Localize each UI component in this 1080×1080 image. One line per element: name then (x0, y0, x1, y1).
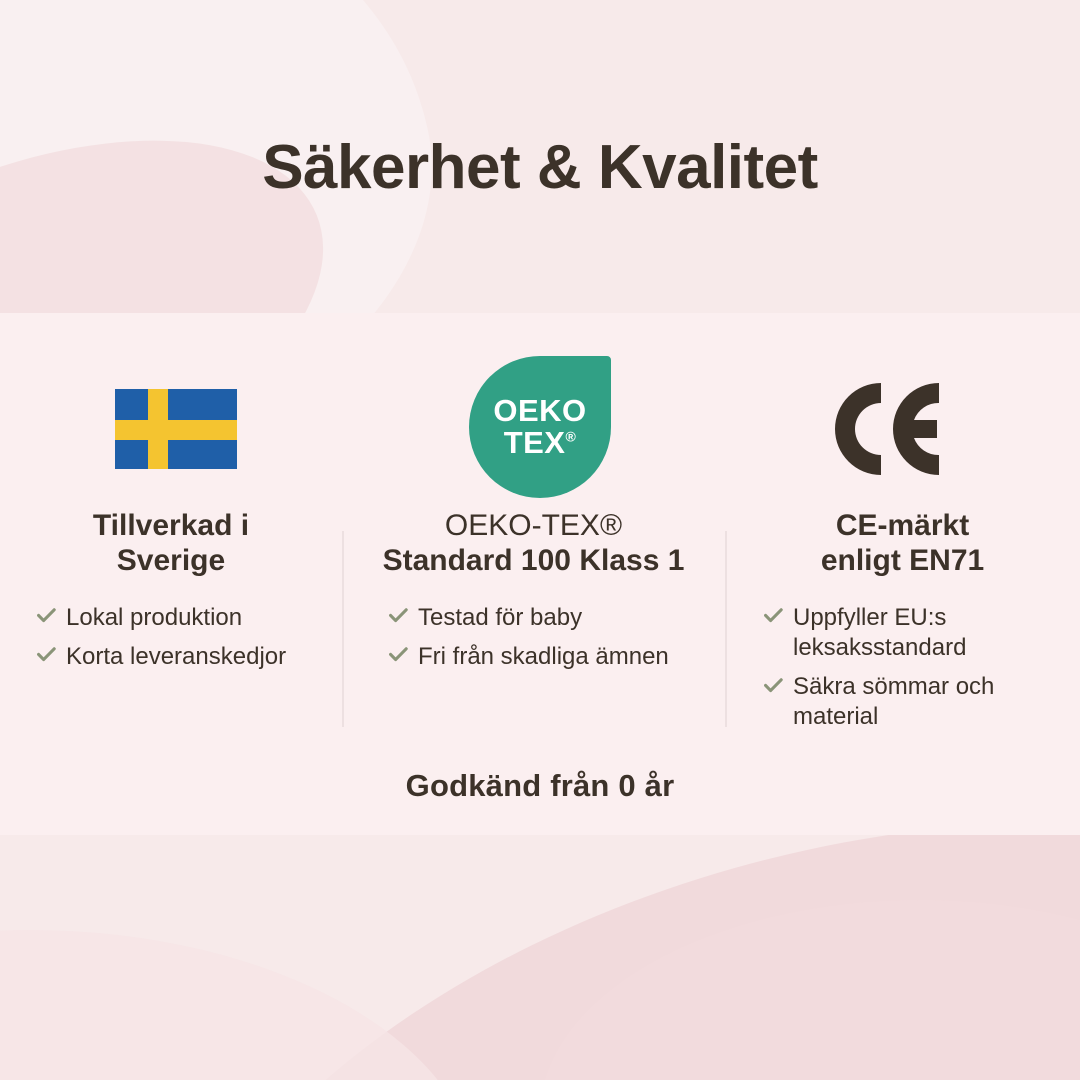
column-heading-ce-line2: enligt EN71 (821, 544, 984, 577)
check-icon (388, 642, 408, 668)
oeko-tex-logo-icon: OEKO TEX® (469, 356, 611, 498)
badge-row: OEKO TEX® (0, 369, 1080, 489)
decorative-blob-bottom-right (540, 900, 1080, 1080)
column-heading-oekotex: OEKO-TEX® Standard 100 Klass 1 (342, 509, 725, 579)
check-icon (36, 603, 56, 629)
trust-column-sweden: Tillverkad i Sverige Lokal produktion (0, 509, 342, 681)
list-item: Fri från skadliga ämnen (388, 642, 725, 672)
check-icon (36, 642, 56, 668)
column-heading-sweden: Tillverkad i Sverige (0, 509, 342, 579)
column-heading-oekotex-line2: Standard 100 Klass 1 (383, 544, 685, 577)
column-heading-ce-line1: CE-märkt (836, 509, 969, 542)
decorative-blob-bottom-left (0, 930, 480, 1080)
list-item: Testad för baby (388, 603, 725, 633)
column-heading-oekotex-line1: OEKO-TEX® (445, 509, 622, 542)
ce-mark-icon (829, 377, 979, 481)
list-item-label: Lokal produktion (66, 603, 242, 633)
column-heading-sweden-line2: Sverige (117, 544, 225, 577)
feature-list-sweden: Lokal produktion Korta leveranskedjor (0, 603, 342, 672)
list-item: Lokal produktion (36, 603, 342, 633)
list-item-label: Testad för baby (418, 603, 582, 633)
list-item: Korta leveranskedjor (36, 642, 342, 672)
infographic-canvas: Säkerhet & Kvalitet OEKO TEX® (0, 0, 1080, 1080)
trust-panel: OEKO TEX® Tillverkad i (0, 313, 1080, 835)
list-item-label: Korta leveranskedjor (66, 642, 286, 672)
check-icon (763, 603, 783, 629)
badge-cell-ce (728, 369, 1080, 489)
trust-column-ce: CE-märkt enligt EN71 Uppfyller EU:s leks… (725, 509, 1080, 742)
column-heading-sweden-line1: Tillverkad i (93, 509, 249, 542)
oeko-logo-line2: TEX® (504, 427, 577, 459)
list-item: Uppfyller EU:s leksaksstandard (763, 603, 1080, 663)
approval-note: Godkänd från 0 år (0, 768, 1080, 804)
list-item: Säkra sömmar och material (763, 672, 1080, 732)
trust-column-oekotex: OEKO-TEX® Standard 100 Klass 1 Testad fö… (342, 509, 725, 681)
column-heading-ce: CE-märkt enligt EN71 (725, 509, 1080, 579)
oeko-logo-line2-text: TEX (504, 425, 566, 460)
badge-cell-sweden (0, 369, 352, 489)
page-title: Säkerhet & Kvalitet (262, 110, 818, 203)
flag-cross-horizontal (115, 420, 237, 440)
check-icon (388, 603, 408, 629)
swedish-flag-icon (115, 389, 237, 469)
column-row: Tillverkad i Sverige Lokal produktion (0, 509, 1080, 759)
oeko-logo-line1: OEKO (493, 395, 586, 427)
feature-list-ce: Uppfyller EU:s leksaksstandard Säkra söm… (725, 603, 1080, 733)
list-item-label: Säkra sömmar och material (793, 672, 1080, 732)
feature-list-oekotex: Testad för baby Fri från skadliga ämnen (342, 603, 725, 672)
list-item-label: Uppfyller EU:s leksaksstandard (793, 603, 1080, 663)
header: Säkerhet & Kvalitet (0, 0, 1080, 313)
list-item-label: Fri från skadliga ämnen (418, 642, 669, 672)
oeko-logo-registered-mark: ® (565, 429, 576, 445)
badge-cell-oekotex: OEKO TEX® (352, 369, 728, 489)
check-icon (763, 672, 783, 698)
